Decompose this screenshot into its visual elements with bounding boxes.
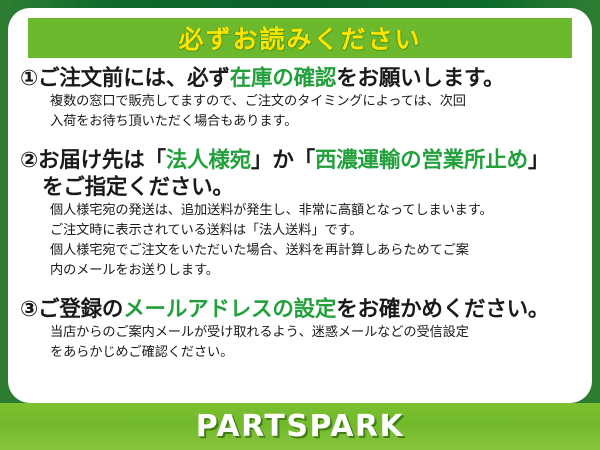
notice-panel: 必ずお読みください ①ご注文前には、必ず在庫の確認をお願いします。 複数の窓口で… [8,8,592,403]
notice-item-2-heading-part-2: 」か「 [251,148,315,173]
notice-item-2-heading-part-4: 」 [528,148,549,173]
notice-item-2-heading: ②お届け先は「法人様宛」か「西濃運輸の営業所止め」 [20,148,580,174]
notice-item-3-body: 当店からのご案内メールが受け取れるよう、迷惑メールなどの受信設定 をあらかじめご… [20,323,580,363]
banner-title: 必ずお読みください [178,20,421,56]
notice-item-2-heading-line2: をご指定ください。 [20,175,580,201]
notice-item-3-heading: ③ご登録のメールアドレスの設定をお確かめください。 [20,297,580,323]
notice-item-2-heading-part-3: 西濃運輸の営業所止め [315,148,528,173]
notice-item-3-heading-part-1: メールアドレスの設定 [123,297,336,322]
footer-bar: PARTSPARK [0,403,600,450]
notice-item-1-heading-part-0: ご注文前には、必ず [38,66,230,91]
title-bar: 必ずお読みください [28,18,572,58]
notice-item-1-heading: ①ご注文前には、必ず在庫の確認をお願いします。 [20,66,580,92]
notice-item-2-heading-part-0: お届け先は「 [38,148,166,173]
notice-content: ①ご注文前には、必ず在庫の確認をお願いします。 複数の窓口で販売してますので、ご… [20,64,580,367]
notice-item-3: ③ご登録のメールアドレスの設定をお確かめください。 当店からのご案内メールが受け… [20,297,580,363]
notice-item-2-heading-part-1: 法人様宛 [166,148,251,173]
notice-item-3-heading-part-0: ご登録の [38,297,123,322]
notice-item-3-heading-part-2: をお確かめください。 [336,297,549,322]
notice-item-2: ②お届け先は「法人様宛」か「西濃運輸の営業所止め」 をご指定ください。 個人様宅… [20,148,580,281]
notice-item-1-heading-part-2: をお願いします。 [336,66,504,91]
notice-item-1-body: 複数の窓口で販売してますので、ご注文のタイミングによっては、次回 入荷をお待ち頂… [20,92,580,132]
notice-item-1-number: ① [20,66,38,91]
notice-item-1-heading-part-1: 在庫の確認 [230,66,337,91]
notice-item-3-number: ③ [20,297,38,322]
notice-item-2-number: ② [20,148,38,173]
brand-logo: PARTSPARK [196,409,405,444]
notice-item-2-body: 個人様宅宛の発送は、追加送料が発生し、非常に高額となってしまいます。 ご注文時に… [20,201,580,281]
notice-item-1: ①ご注文前には、必ず在庫の確認をお願いします。 複数の窓口で販売してますので、ご… [20,66,580,132]
notice-banner: 必ずお読みください ①ご注文前には、必ず在庫の確認をお願いします。 複数の窓口で… [0,0,600,450]
